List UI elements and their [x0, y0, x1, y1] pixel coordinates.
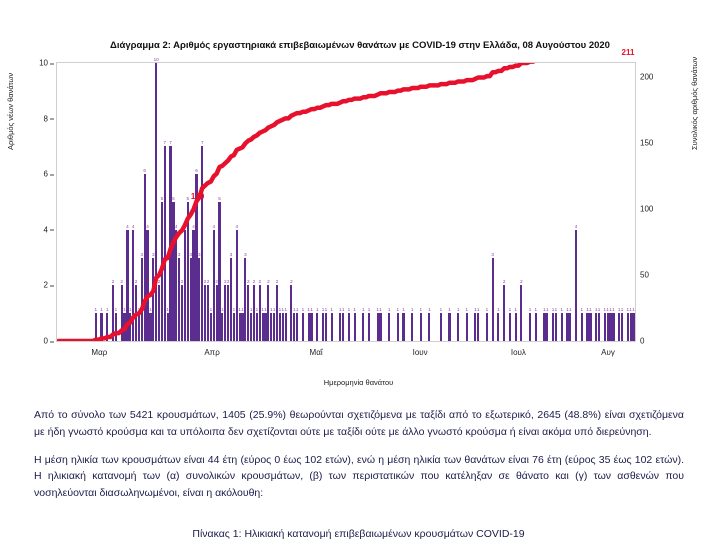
paragraph-1: Από το σύνολο των 5421 κρουσμάτων, 1405 …: [34, 407, 684, 441]
x-tick: Ιουν: [413, 348, 428, 357]
paragraph-2: Η μέση ηλικία των κρουσμάτων είναι 44 έτ…: [34, 452, 684, 502]
y-axis-left-label: Αριθμός νέων θανάτων: [6, 73, 15, 150]
x-tick: Απρ: [204, 348, 219, 357]
x-tick: Αυγ: [601, 348, 615, 357]
y-tick-right: 100: [640, 205, 653, 214]
annotation-midpoint: 100: [191, 192, 204, 201]
cumulative-line-series: [57, 63, 635, 341]
report-page: Διάγραμμα 2: Αριθμός εργαστηριακά επιβεβ…: [0, 0, 717, 545]
plot-area: 1112121414213641310257175432453463722142…: [56, 62, 636, 342]
x-tick: Μαρ: [91, 348, 107, 357]
body-text: Από το σύνολο των 5421 κρουσμάτων, 1405 …: [34, 407, 684, 513]
y-tick-left: 6: [0, 170, 48, 179]
y-tick-right: 200: [640, 73, 653, 82]
chart-title: Διάγραμμα 2: Αριθμός εργαστηριακά επιβεβ…: [60, 40, 660, 51]
x-tick: Ιουλ: [511, 348, 526, 357]
x-tick: Μαΐ: [310, 348, 323, 357]
annotation-total: 211: [622, 48, 635, 57]
x-axis-label: Ημερομηνία θανάτου: [0, 378, 717, 387]
y-axis-right-label: Συνολικός αριθμός θανάτων: [690, 57, 699, 150]
y-tick-left: 10: [0, 59, 48, 68]
y-tick-right: 150: [640, 139, 653, 148]
y-tick-left: 2: [0, 281, 48, 290]
y-tick-left: 0: [0, 337, 48, 346]
y-tick-right: 50: [640, 271, 649, 280]
y-tick-left: 4: [0, 225, 48, 234]
y-tick-right: 0: [640, 337, 644, 346]
table-caption: Πίνακας 1: Ηλικιακή κατανομή επιβεβαιωμέ…: [0, 528, 717, 540]
chart-container: Διάγραμμα 2: Αριθμός εργαστηριακά επιβεβ…: [0, 0, 717, 400]
y-tick-left: 8: [0, 114, 48, 123]
bar-value-label: 10: [154, 57, 159, 62]
